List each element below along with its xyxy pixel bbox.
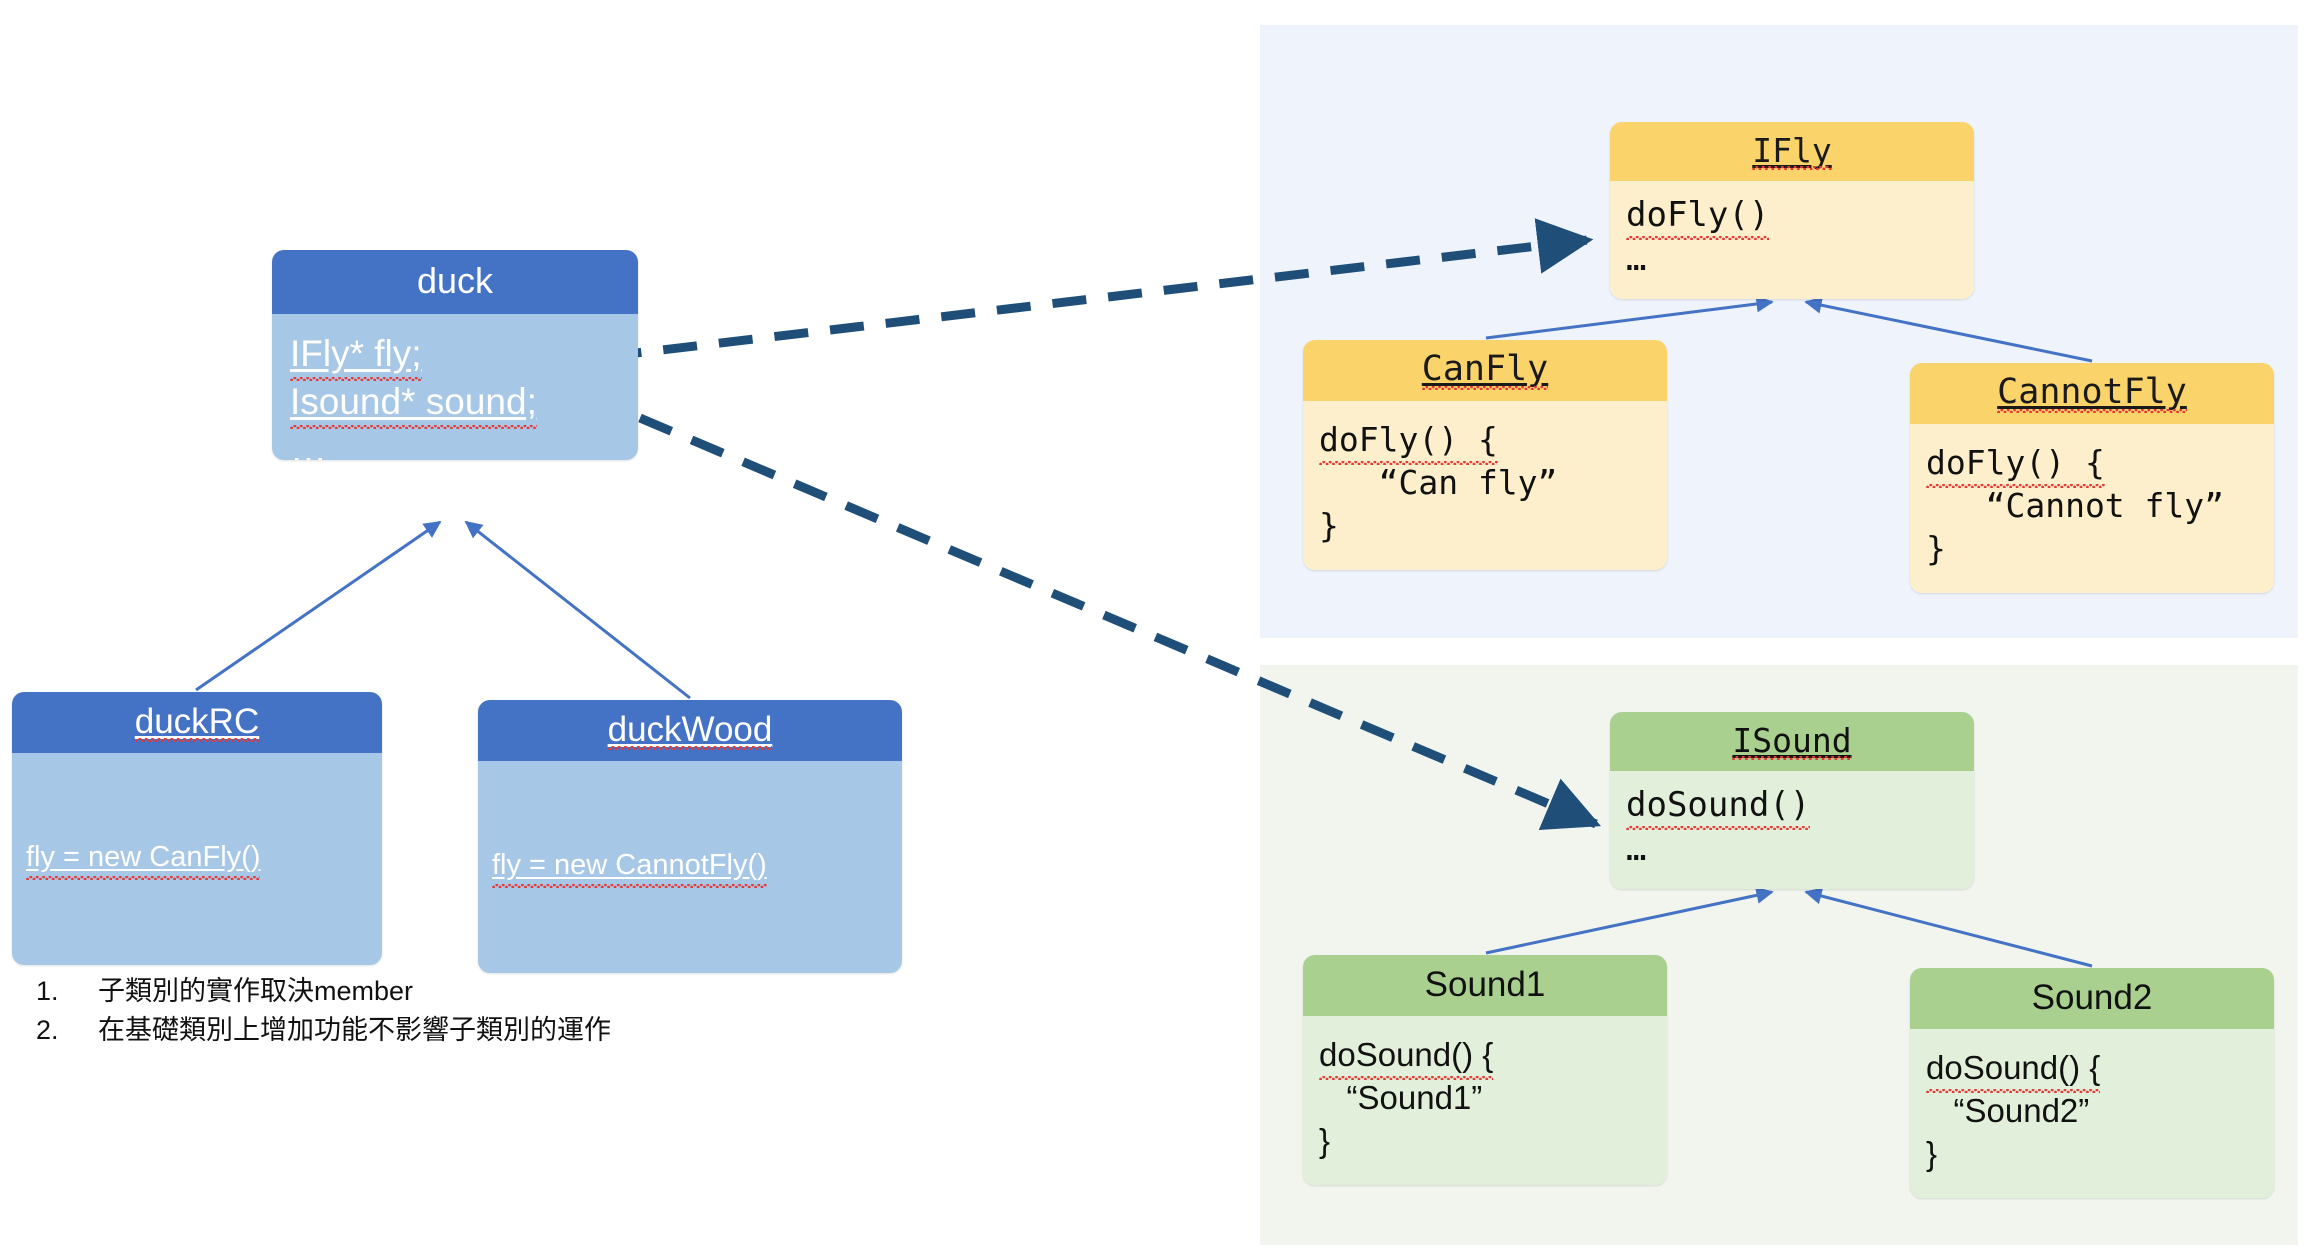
member-line: doFly() { — [1319, 419, 1651, 462]
class-box-cannotfly[interactable]: CannotFly doFly() { “Cannot fly” } — [1910, 363, 2274, 593]
class-members-duckrc: fly = new CanFly() — [12, 753, 382, 965]
member-line: } — [1926, 1133, 2258, 1176]
member-line: doSound() — [1626, 783, 1958, 827]
member-text: } — [1319, 506, 1339, 545]
note-number: 1. — [36, 972, 98, 1011]
edge-duckrc-to-duck — [196, 522, 440, 690]
class-members-sound1: doSound() { “Sound1” } — [1303, 1016, 1667, 1185]
class-title-ifly: IFly — [1610, 122, 1974, 181]
member-line: Isound* sound; — [290, 378, 620, 426]
member-text: doFly() { — [1319, 419, 1498, 462]
member-text: fly = new CannotFly() — [492, 847, 767, 885]
class-members-cannotfly: doFly() { “Cannot fly” } — [1910, 424, 2274, 593]
note-text: 子類別的實作取決member — [98, 972, 413, 1011]
member-line: “Cannot fly” — [1926, 485, 2258, 528]
member-line: } — [1319, 505, 1651, 548]
class-title-duckrc: duckRC — [12, 692, 382, 753]
class-box-sound1[interactable]: Sound1 doSound() { “Sound1” } — [1303, 955, 1667, 1185]
class-title-duck: duck — [272, 250, 638, 314]
class-box-duck[interactable]: duck IFly* fly; Isound* sound; … — [272, 250, 638, 460]
member-text: } — [1926, 1135, 1937, 1172]
note-number: 2. — [36, 1011, 98, 1050]
member-text: } — [1926, 529, 1946, 568]
class-members-sound2: doSound() { “Sound2” } — [1910, 1029, 2274, 1198]
member-line: doFly() { — [1926, 442, 2258, 485]
member-text: doFly() — [1626, 193, 1769, 237]
note-text: 在基礎類別上增加功能不影響子類別的運作 — [98, 1011, 611, 1050]
member-text: … — [1626, 239, 1648, 279]
notes-list: 1. 子類別的實作取決member 2. 在基礎類別上增加功能不影響子類別的運作 — [36, 972, 816, 1051]
member-text: “Cannot fly” — [1926, 486, 2224, 525]
member-line: IFly* fly; — [290, 330, 620, 378]
member-line: “Sound1” — [1319, 1077, 1651, 1120]
member-line: “Sound2” — [1926, 1090, 2258, 1133]
member-line: … — [1626, 827, 1958, 871]
member-line: doSound() { — [1319, 1034, 1651, 1077]
class-box-duckwood[interactable]: duckWood fly = new CannotFly() — [478, 700, 902, 973]
class-box-sound2[interactable]: Sound2 doSound() { “Sound2” } — [1910, 968, 2274, 1198]
diagram-canvas: duck IFly* fly; Isound* sound; … duckRC … — [0, 0, 2318, 1258]
member-text: } — [1319, 1122, 1330, 1159]
class-box-canfly[interactable]: CanFly doFly() { “Can fly” } — [1303, 340, 1667, 570]
member-line: fly = new CanFly() — [26, 839, 260, 877]
member-line: … — [1626, 237, 1958, 281]
member-text: doSound() { — [1319, 1034, 1493, 1077]
member-text: doSound() — [1626, 783, 1810, 827]
class-members-ifly: doFly() … — [1610, 181, 1974, 299]
class-title-sound2: Sound2 — [1910, 968, 2274, 1029]
note-item: 1. 子類別的實作取決member — [36, 972, 816, 1011]
note-item: 2. 在基礎類別上增加功能不影響子類別的運作 — [36, 1011, 816, 1050]
class-box-ifly[interactable]: IFly doFly() … — [1610, 122, 1974, 299]
member-line: } — [1926, 528, 2258, 571]
class-title-duckwood: duckWood — [478, 700, 902, 761]
class-title-sound1: Sound1 — [1303, 955, 1667, 1016]
class-members-canfly: doFly() { “Can fly” } — [1303, 401, 1667, 570]
member-text: doSound() { — [1926, 1047, 2100, 1090]
member-line: “Can fly” — [1319, 462, 1651, 505]
member-text: fly = new CanFly() — [26, 839, 260, 877]
member-text: doFly() { — [1926, 442, 2105, 485]
class-members-duck: IFly* fly; Isound* sound; … — [272, 314, 638, 460]
member-text: … — [1626, 829, 1648, 869]
member-text: IFly* fly; — [290, 330, 422, 378]
member-text: Isound* sound; — [290, 378, 537, 426]
class-title-isound: ISound — [1610, 712, 1974, 771]
member-line: } — [1319, 1120, 1651, 1163]
member-line: doFly() — [1626, 193, 1958, 237]
member-line: doSound() { — [1926, 1047, 2258, 1090]
class-box-isound[interactable]: ISound doSound() … — [1610, 712, 1974, 889]
class-box-duckrc[interactable]: duckRC fly = new CanFly() — [12, 692, 382, 965]
class-members-duckwood: fly = new CannotFly() — [478, 761, 902, 973]
class-title-cannotfly: CannotFly — [1910, 363, 2274, 424]
member-text: “Can fly” — [1319, 463, 1557, 502]
member-line: … — [290, 426, 620, 460]
member-text: … — [290, 429, 329, 460]
edge-duckwood-to-duck — [466, 522, 690, 698]
member-text: “Sound1” — [1319, 1079, 1482, 1116]
member-text: “Sound2” — [1926, 1092, 2089, 1129]
class-members-isound: doSound() … — [1610, 771, 1974, 889]
member-line: fly = new CannotFly() — [492, 847, 767, 885]
class-title-canfly: CanFly — [1303, 340, 1667, 401]
